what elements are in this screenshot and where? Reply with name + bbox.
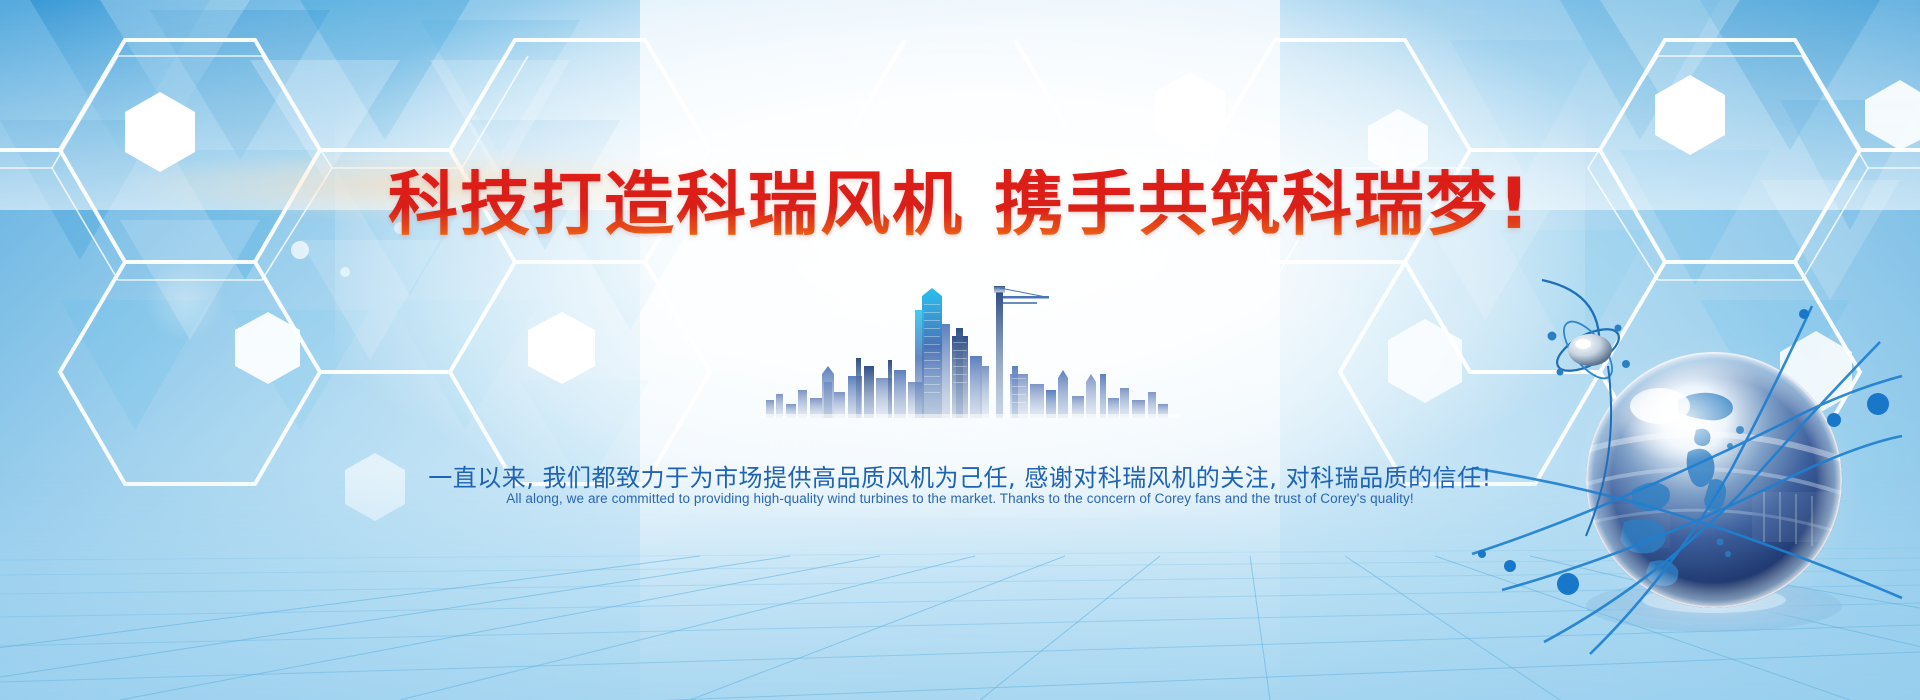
city-skyline-silhouette — [760, 278, 1180, 418]
hero-banner: 科技打造科瑞风机携手共筑科瑞梦! 一直以来, 我们都致力于为市场提供高品质风机为… — [0, 0, 1920, 700]
page-title: 科技打造科瑞风机携手共筑科瑞梦! — [0, 169, 1920, 239]
headline-part-1: 科技打造科瑞风机 — [388, 163, 964, 245]
chrome-globe-network — [1482, 254, 1902, 654]
subtitle-chinese: 一直以来, 我们都致力于为市场提供高品质风机为己任, 感谢对科瑞风机的关注, 对… — [0, 458, 1920, 493]
headline-part-2: 携手共筑科瑞梦! — [994, 163, 1532, 245]
subtitle-english: All along, we are committed to providing… — [0, 491, 1920, 506]
